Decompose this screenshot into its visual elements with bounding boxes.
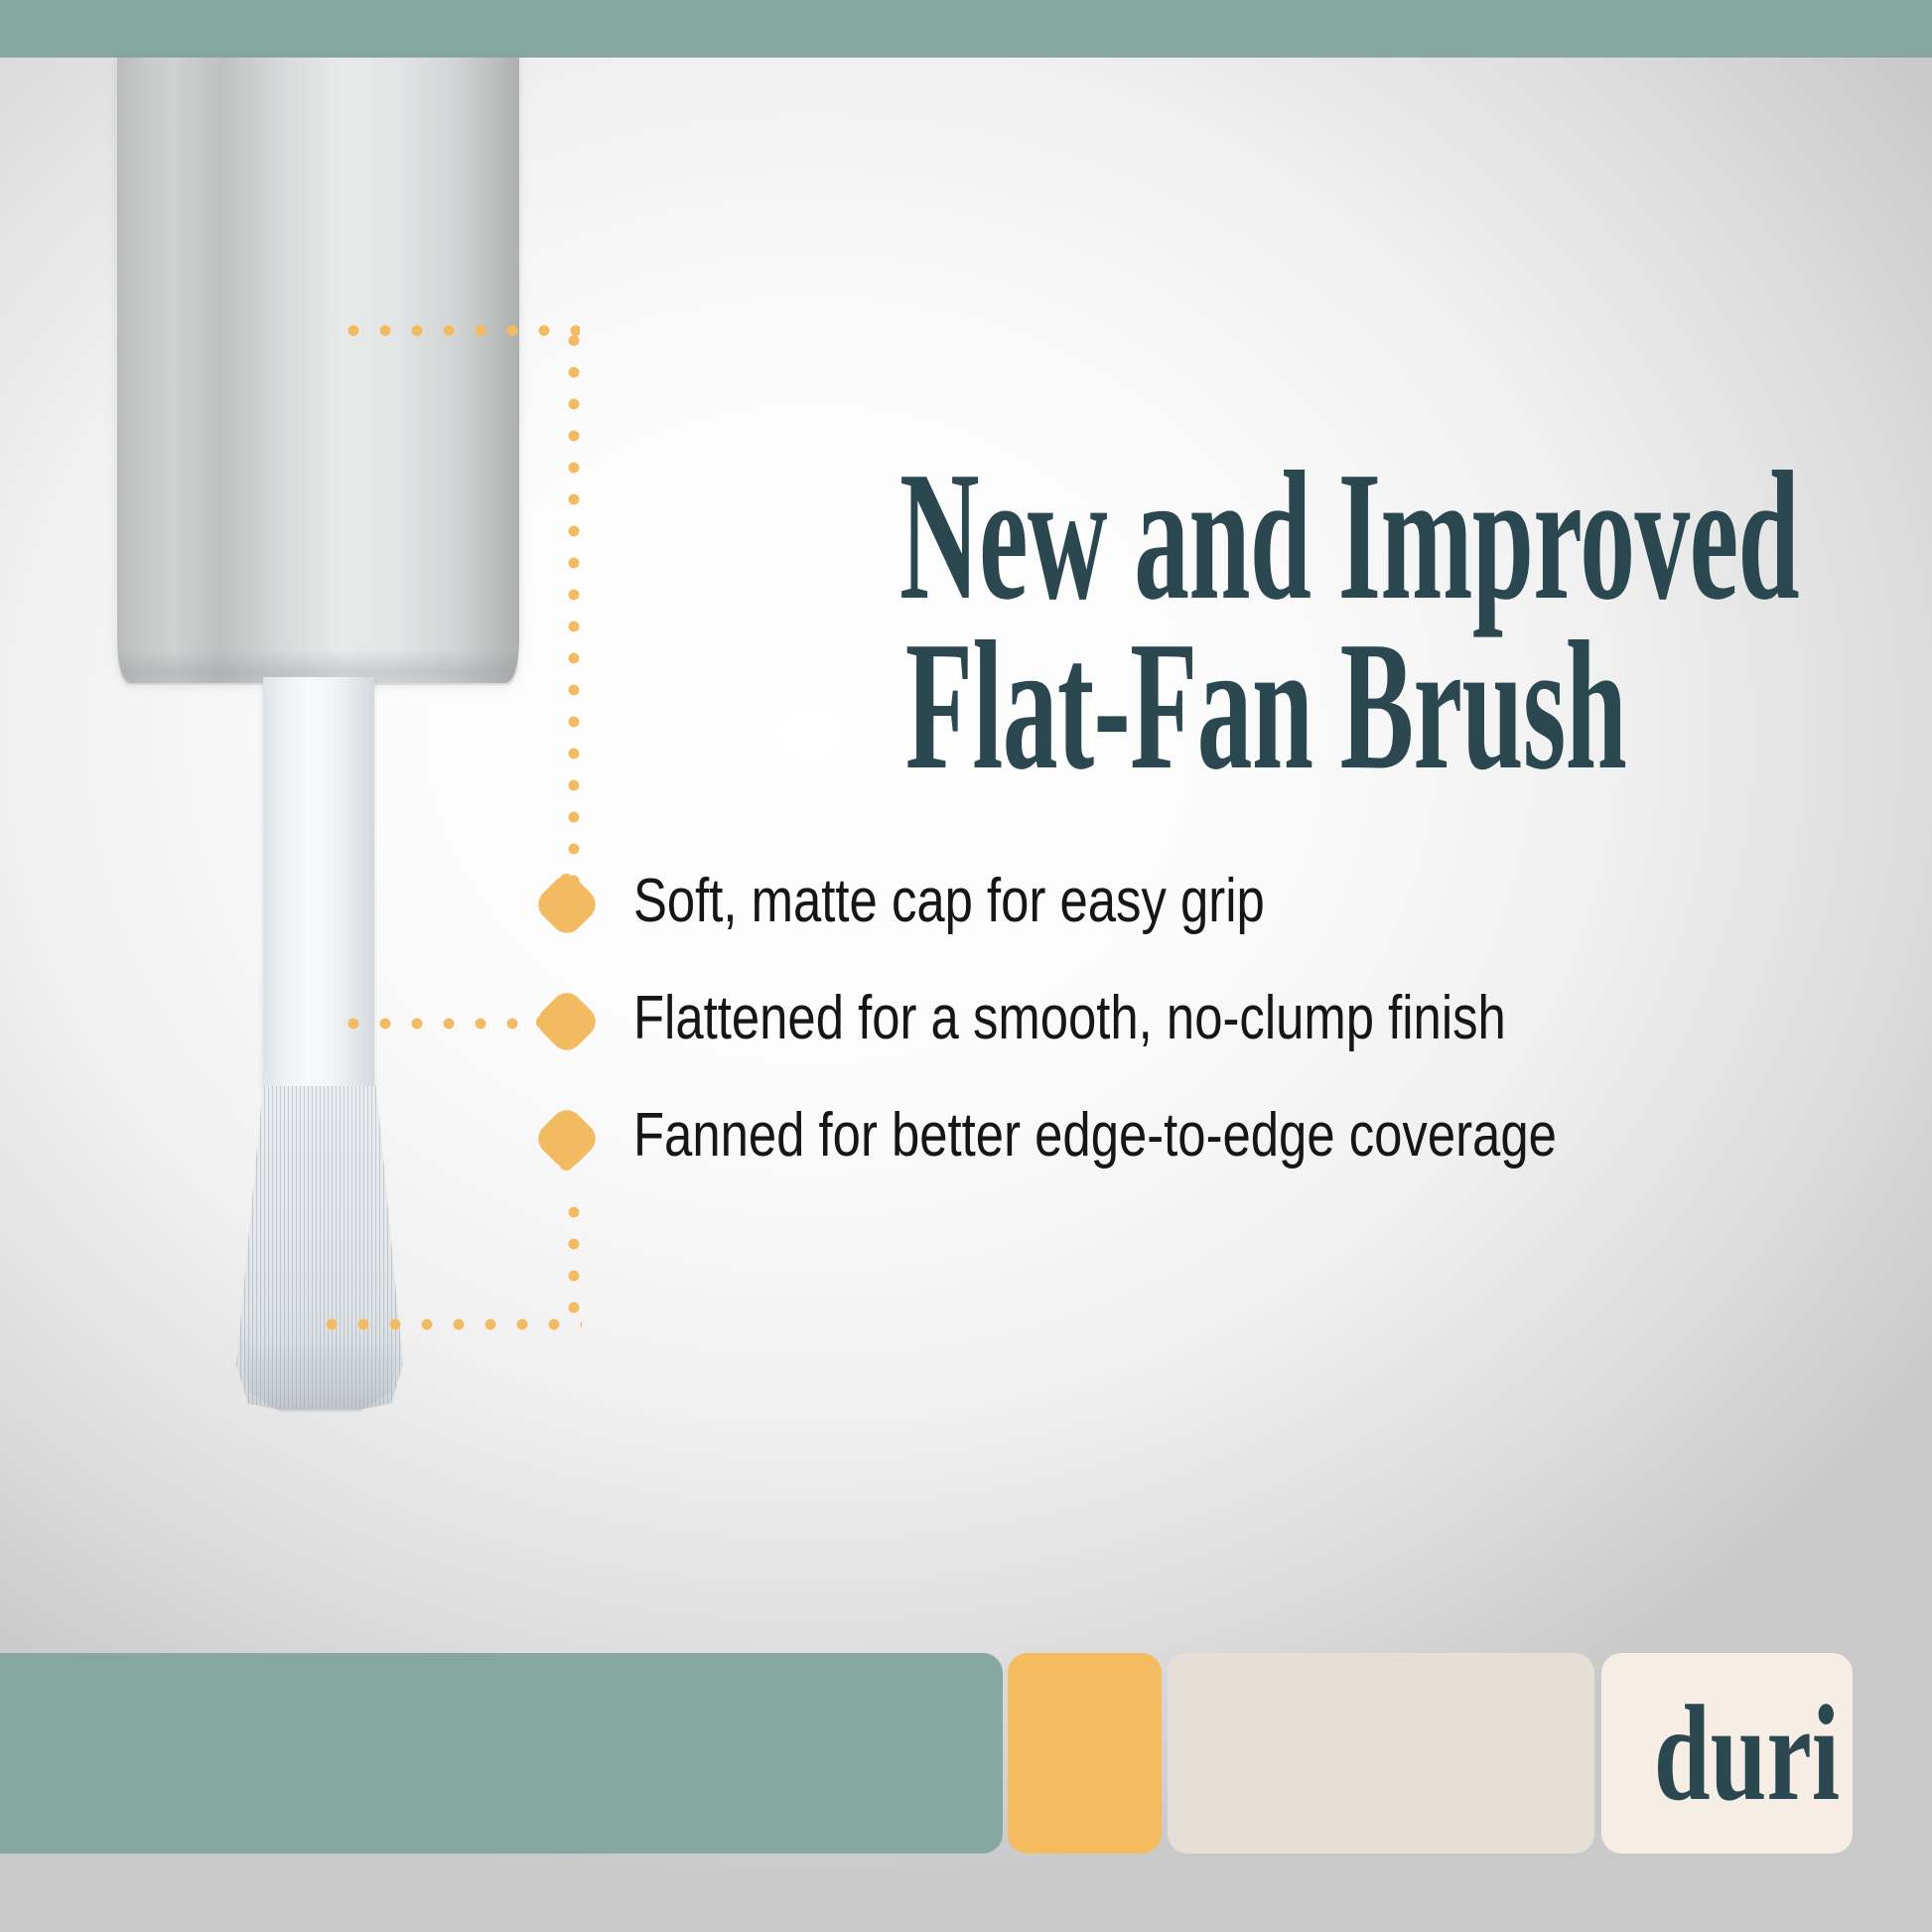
brand-logo: duri [1654,1653,1840,1854]
diamond-marker-nub [536,1015,551,1030]
callout-line-bristles-vertical [568,1196,580,1330]
feature-text-3: Fanned for better edge-to-edge coverage [633,1086,1557,1185]
diamond-marker-nub [559,874,574,889]
list-item: Fanned for better edge-to-edge coverage [536,1086,1926,1203]
headline-line-2: Flat-Fan Brush [899,621,1632,791]
diamond-marker-icon [536,991,598,1052]
feature-list: Soft, matte cap for easy grip Flattened … [536,852,1926,1203]
callout-line-bristles-horizontal [316,1318,582,1330]
diamond-marker-icon [536,1108,598,1170]
diamond-marker-nub [559,1156,574,1171]
brush-cap [117,58,519,683]
feature-text-2: Flattened for a smooth, no-clump finish [633,969,1506,1068]
headline-line-1: New and Improved [899,452,1632,621]
page-title: New and Improved Flat-Fan Brush [899,452,1632,791]
footer-sage-block [0,1653,1003,1854]
footer-beige-block [1168,1653,1594,1854]
diamond-marker-icon [536,874,598,935]
feature-text-1: Soft, matte cap for easy grip [633,852,1265,951]
list-item: Flattened for a smooth, no-clump finish [536,969,1926,1086]
top-accent-bar [0,0,1932,58]
footer-amber-block [1008,1653,1162,1854]
product-image [0,58,616,1467]
promo-poster: New and Improved Flat-Fan Brush Soft, ma… [0,0,1932,1932]
footer-color-bar [0,1653,1932,1854]
callout-line-cap-horizontal [338,325,580,337]
callout-line-cap-vertical [568,325,580,900]
list-item: Soft, matte cap for easy grip [536,852,1926,969]
brush-ferrule [263,677,374,1092]
